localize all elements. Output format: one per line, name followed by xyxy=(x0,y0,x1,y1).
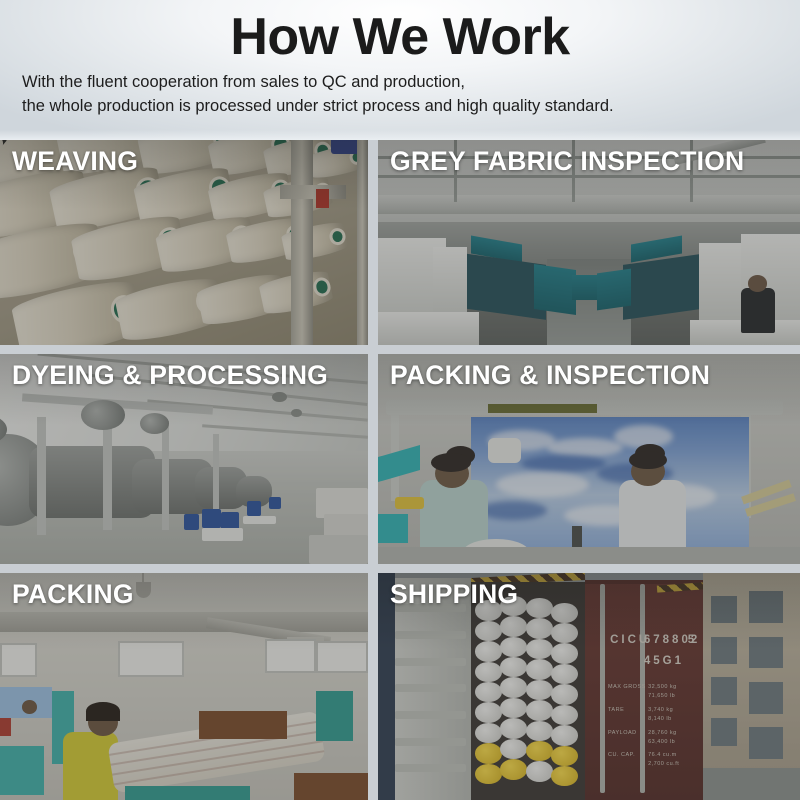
cell-label-weaving: WEAVING xyxy=(12,146,138,176)
page-subtitle: With the fluent cooperation from sales t… xyxy=(22,70,614,119)
page-title: How We Work xyxy=(0,10,800,65)
subtitle-line-1: With the fluent cooperation from sales t… xyxy=(22,70,614,94)
grid-cell-packing-inspection[interactable]: PACKING & INSPECTION xyxy=(378,354,800,573)
cell-label-packing: PACKING xyxy=(12,579,134,609)
grid-cell-packing[interactable]: PACKING xyxy=(0,573,378,800)
cell-label-shipping: SHIPPING xyxy=(390,579,518,609)
grid-cell-weaving[interactable]: WEAVING xyxy=(0,140,378,354)
grid-cell-grey-fabric-inspection[interactable]: GREY FABRIC INSPECTION xyxy=(378,140,800,354)
cell-label-grey-fabric-inspection: GREY FABRIC INSPECTION xyxy=(390,146,744,176)
cell-label-packing-inspection: PACKING & INSPECTION xyxy=(390,360,710,390)
cell-label-dyeing-processing: DYEING & PROCESSING xyxy=(12,360,328,390)
process-grid: WEAVING xyxy=(0,140,800,800)
subtitle-line-2: the whole production is processed under … xyxy=(22,94,614,118)
how-we-work-page: How We Work With the fluent cooperation … xyxy=(0,0,800,800)
page-header: How We Work With the fluent cooperation … xyxy=(0,0,800,140)
grid-cell-shipping[interactable]: CICU 678802 5 45G1 MAX GROSS 32,500 kg 7… xyxy=(378,573,800,800)
grid-cell-dyeing-processing[interactable]: DYEING & PROCESSING xyxy=(0,354,378,573)
